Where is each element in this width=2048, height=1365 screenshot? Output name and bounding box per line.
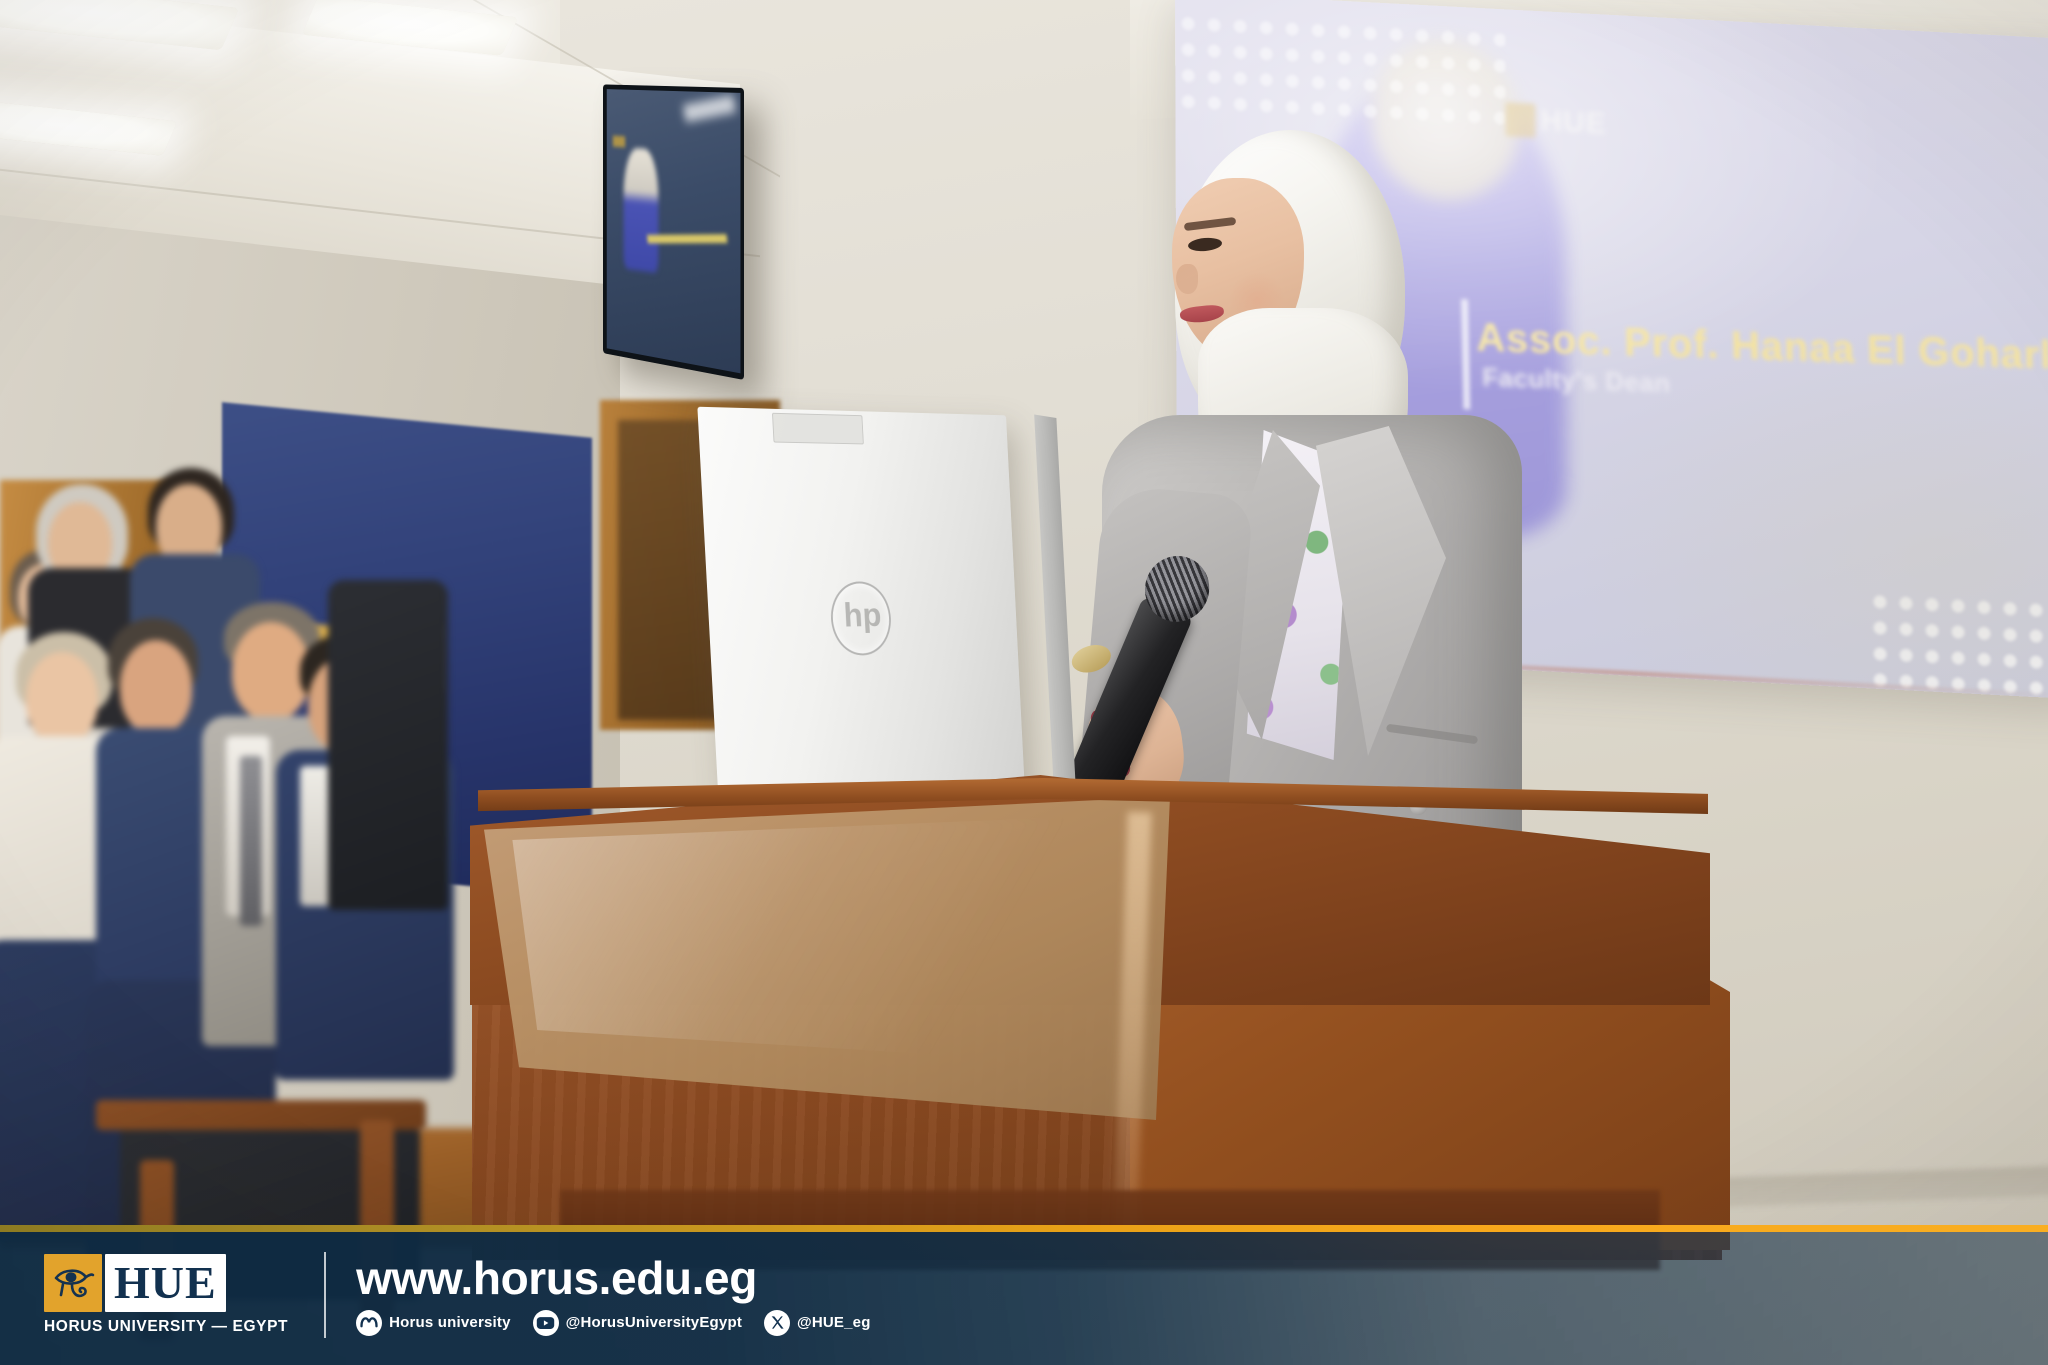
microphone-head [1135,546,1220,632]
social-links: Horus university @HorusUniversityEgypt [356,1310,871,1336]
brand-footer: HUE HORUS UNIVERSITY — EGYPT www.horus.e… [0,1225,2048,1365]
website-url[interactable]: www.horus.edu.eg [356,1254,871,1302]
wall-tv-glare [683,95,736,123]
eye-of-horus-icon [44,1254,102,1312]
social-label-x: @HUE_eg [797,1314,871,1331]
hp-logo [829,581,893,656]
hue-wordmark-text: HUE [114,1260,217,1306]
hue-logo: HUE HORUS UNIVERSITY — EGYPT [44,1254,288,1336]
social-link-x[interactable]: @HUE_eg [764,1310,871,1336]
seated-audience [0,560,470,1260]
wall-tv-text-line [647,234,727,243]
social-label-youtube: @HorusUniversityEgypt [566,1314,742,1331]
photo-canvas: HUE Assoc. Prof. Hanaa El Goharl Faculty… [0,0,2048,1365]
hue-wordmark: HUE [105,1254,226,1312]
meta-icon [356,1310,382,1336]
footer-contact-block: www.horus.edu.eg Horus university [356,1254,871,1335]
footer-divider [324,1252,326,1338]
youtube-icon [533,1310,559,1336]
social-label-meta: Horus university [389,1314,511,1331]
monitor-stand-notch [772,413,864,445]
wall-tv-figure [624,147,659,273]
social-link-youtube[interactable]: @HorusUniversityEgypt [533,1310,742,1336]
hue-logo-row: HUE [44,1254,226,1312]
wall-tv-logo [613,136,625,148]
chair [328,580,448,910]
social-link-meta[interactable]: Horus university [356,1310,511,1336]
x-twitter-icon [764,1310,790,1336]
wall-tv-screen [607,89,741,373]
speaker-nose [1176,264,1198,294]
wall-tv [603,84,744,380]
hp-monitor [697,407,1026,828]
hue-logo-subtitle: HORUS UNIVERSITY — EGYPT [44,1318,288,1336]
footer-gold-stripe [0,1225,2048,1232]
podium-surface-gloss [500,815,1120,1065]
